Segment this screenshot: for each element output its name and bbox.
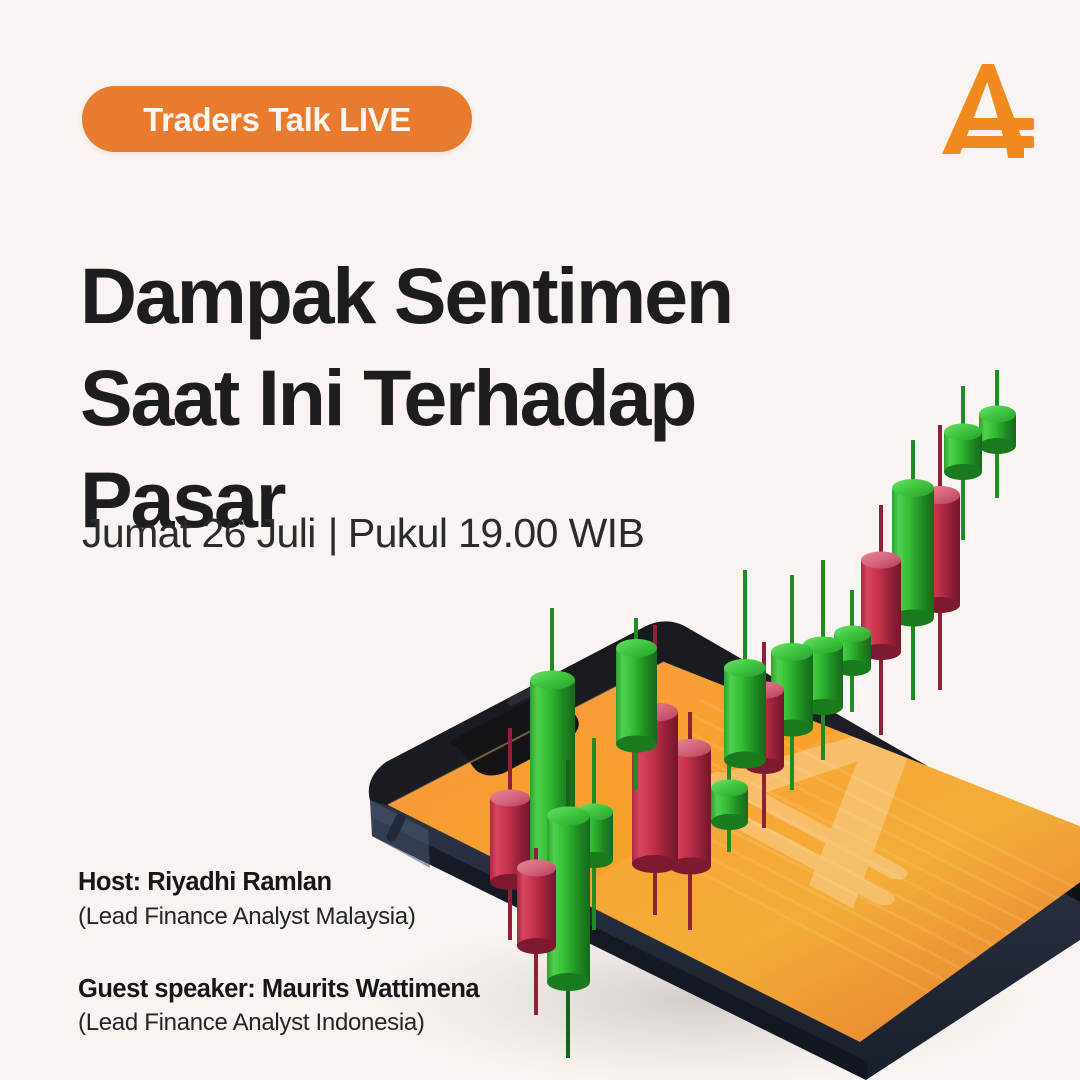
candle-9 bbox=[711, 678, 748, 852]
event-datetime: Jumat 26 Juli|Pukul 19.00 WIB bbox=[82, 513, 644, 554]
speaker-credits: Host: Riyadhi Ramlan (Lead Finance Analy… bbox=[78, 866, 479, 1040]
candle-1 bbox=[490, 728, 530, 940]
screen-content bbox=[560, 684, 1080, 1076]
notch-icon bbox=[450, 695, 579, 776]
candle-18 bbox=[979, 370, 1016, 498]
host-name: Host: Riyadhi Ramlan bbox=[78, 866, 479, 900]
event-time: Pukul 19.00 WIB bbox=[348, 510, 644, 556]
candle-17 bbox=[944, 386, 982, 540]
headline-line-2: Saat Ini Terhadap bbox=[80, 347, 800, 449]
guest-credit: Guest speaker: Maurits Wattimena (Lead F… bbox=[78, 973, 479, 1040]
candle-14 bbox=[861, 505, 901, 735]
candle-12 bbox=[803, 560, 843, 760]
earpiece-slot bbox=[506, 672, 565, 707]
candle-3 bbox=[576, 738, 613, 930]
volume-button bbox=[385, 812, 407, 843]
candle-13 bbox=[834, 590, 871, 712]
candle-0 bbox=[517, 848, 556, 1015]
page-title: Dampak Sentimen Saat Ini Terhadap Pasar bbox=[80, 245, 800, 551]
brand-logo bbox=[938, 58, 1042, 160]
candle-16 bbox=[920, 425, 960, 690]
candle-11 bbox=[771, 575, 813, 790]
candle-4 bbox=[530, 608, 575, 940]
guest-name: Guest speaker: Maurits Wattimena bbox=[78, 973, 479, 1007]
headline-line-1: Dampak Sentimen bbox=[80, 245, 800, 347]
octa-a-logo-icon bbox=[938, 58, 1042, 160]
live-badge-label: Traders Talk LIVE bbox=[143, 103, 411, 136]
candle-6 bbox=[632, 625, 678, 915]
candle-5 bbox=[616, 618, 657, 790]
candle-8 bbox=[724, 570, 766, 769]
host-role: (Lead Finance Analyst Malaysia) bbox=[78, 900, 479, 933]
candle-15 bbox=[892, 440, 934, 700]
live-badge[interactable]: Traders Talk LIVE bbox=[82, 86, 472, 152]
candle-7 bbox=[669, 712, 711, 930]
screen-stripes bbox=[646, 700, 1080, 1076]
candle-10 bbox=[745, 642, 784, 828]
speaker-slot bbox=[516, 880, 551, 903]
candle-2 bbox=[547, 760, 590, 1058]
promo-poster: Traders Talk LIVE Dampak Sentimen Saat I… bbox=[0, 0, 1080, 1080]
datetime-separator: | bbox=[328, 513, 338, 554]
guest-role: (Lead Finance Analyst Indonesia) bbox=[78, 1006, 479, 1039]
octa-a-logo-watermark-icon bbox=[642, 684, 1018, 919]
host-credit: Host: Riyadhi Ramlan (Lead Finance Analy… bbox=[78, 866, 479, 933]
event-date: Jumat 26 Juli bbox=[82, 510, 316, 556]
